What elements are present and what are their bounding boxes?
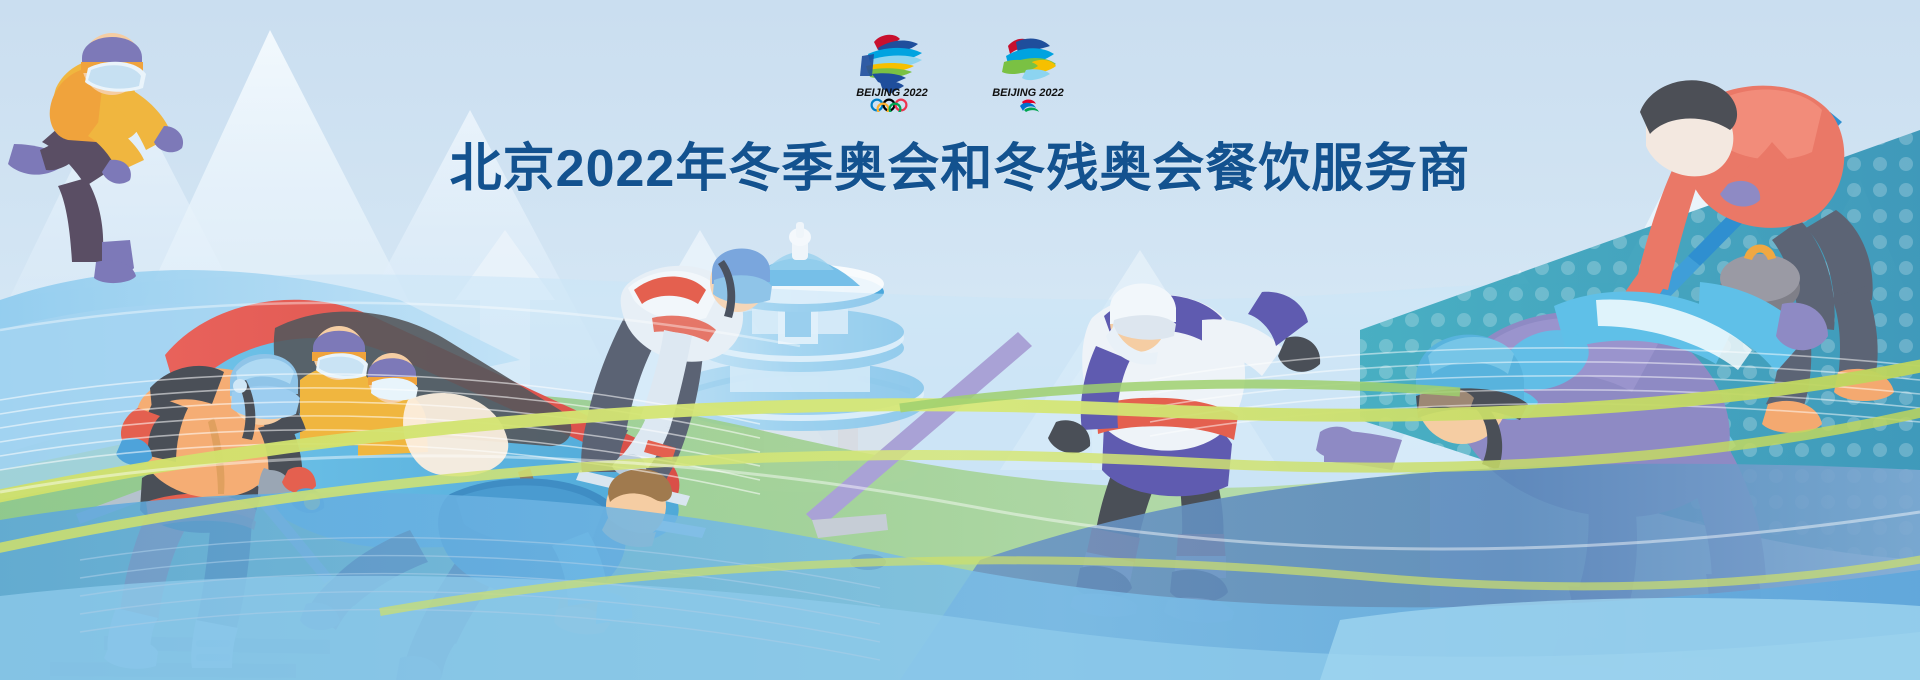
winter-dream-ribbon <box>860 35 922 94</box>
page-title: 北京2022年冬季奥会和冬残奥会餐饮服务商 <box>450 126 1471 201</box>
paralympic-wordmark: BEIJING 2022 <box>992 87 1064 99</box>
olympic-catering-banner: BEIJING 2022 <box>0 0 1920 680</box>
beijing-2022-olympic-emblem[interactable]: BEIJING 2022 <box>844 26 940 112</box>
emblem-row: BEIJING 2022 <box>844 26 1076 112</box>
paralympic-ribbon <box>1002 39 1056 81</box>
highlight-curve <box>0 303 800 346</box>
beijing-2022-paralympic-emblem[interactable]: BEIJING 2022 <box>980 26 1076 112</box>
olympic-wordmark: BEIJING 2022 <box>856 87 928 99</box>
paralympic-agitos <box>1020 100 1039 112</box>
olympic-rings <box>872 100 907 112</box>
